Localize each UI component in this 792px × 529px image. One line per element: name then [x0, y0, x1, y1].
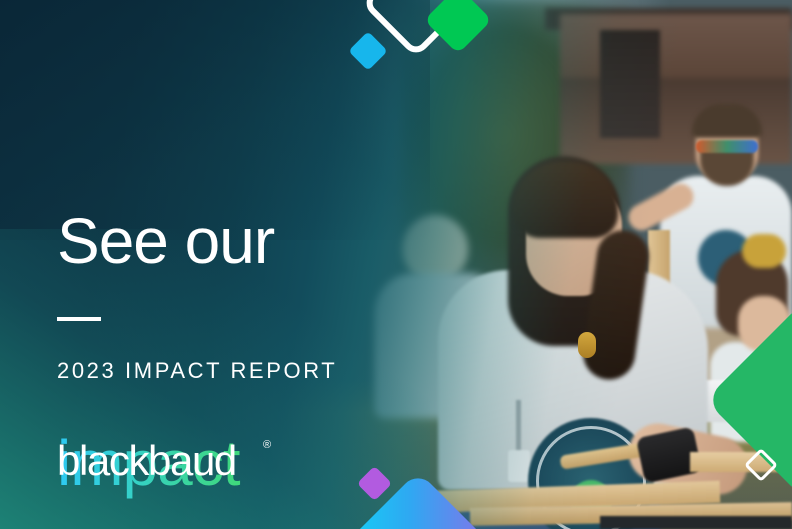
headline-line-1: See our	[57, 204, 303, 278]
report-subtitle: 2023 IMPACT REPORT	[57, 358, 337, 384]
divider-rule	[57, 317, 101, 321]
blackbaud-logo: blackbaud ®	[57, 438, 236, 484]
registered-trademark-icon: ®	[263, 440, 271, 451]
impact-report-cover: See our impact in action. 2023 IMPACT RE…	[0, 0, 792, 529]
logo-wordmark: blackbaud	[57, 437, 236, 484]
